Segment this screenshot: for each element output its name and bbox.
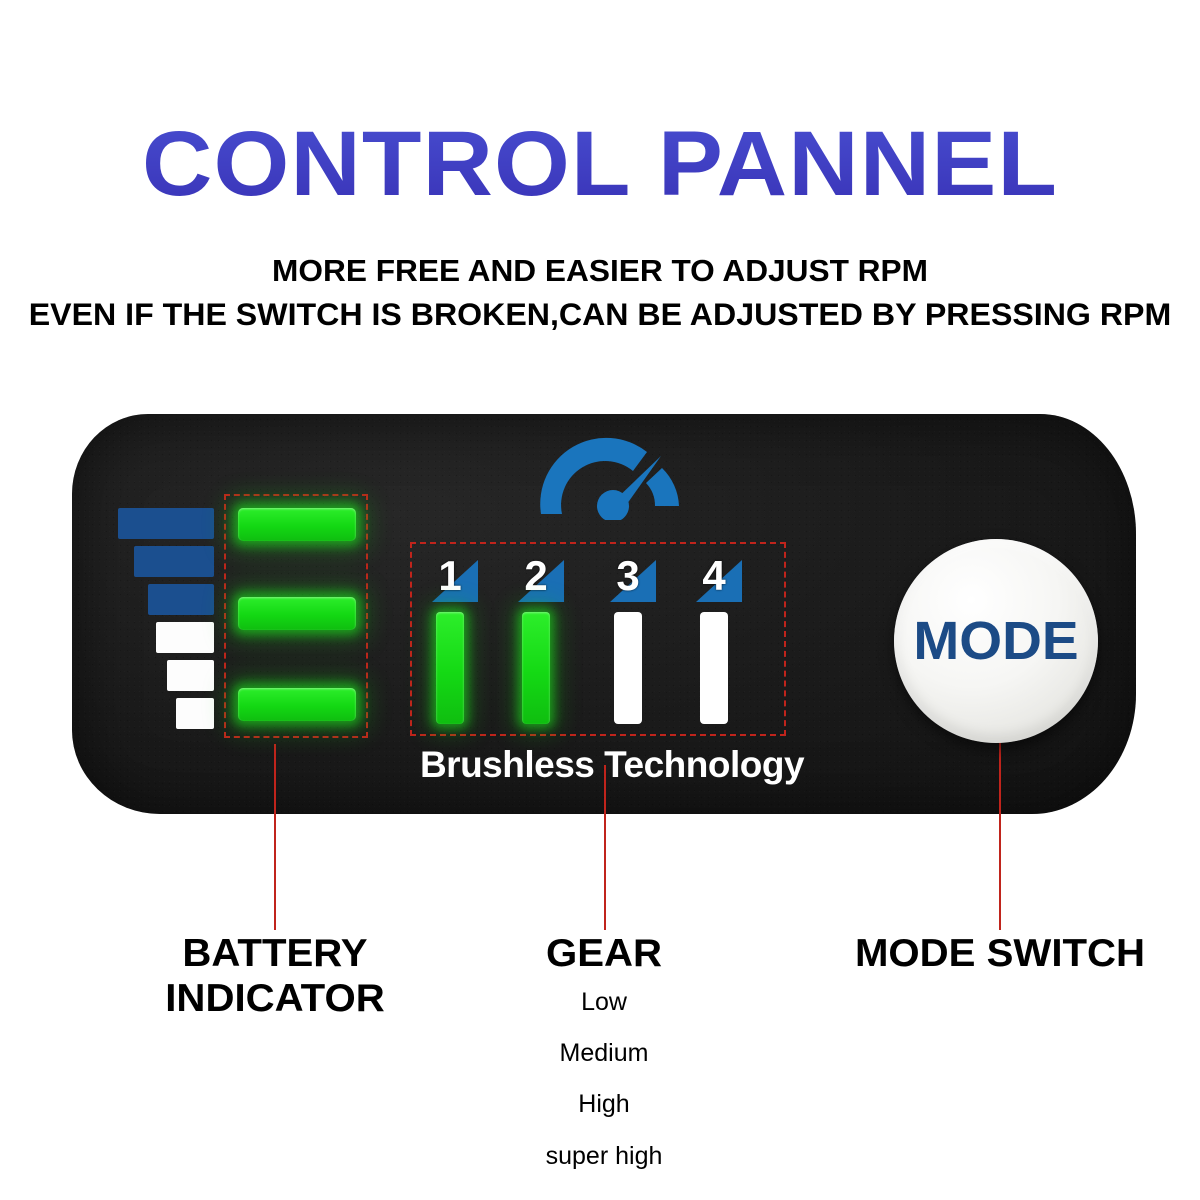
speedometer-gauge-icon (529, 430, 694, 520)
gear-number-4: 4 (694, 554, 734, 598)
gear-flag-2: 2 (516, 556, 566, 604)
caption-battery-indicator: BATTERY INDICATOR (110, 932, 440, 1022)
battery-step-1 (118, 508, 214, 539)
gear-flag-1: 1 (430, 556, 480, 604)
gear-number-3: 3 (608, 554, 648, 598)
gear-column-2[interactable]: 2 (516, 556, 572, 726)
caption-battery-line2: INDICATOR (105, 977, 445, 1022)
gear-flag-3: 3 (608, 556, 658, 604)
gear-bar-2 (522, 612, 550, 724)
gear-bar-3 (614, 612, 642, 724)
gear-bar-1 (436, 612, 464, 724)
caption-mode-title: MODE SWITCH (825, 932, 1175, 977)
gear-column-3[interactable]: 3 (608, 556, 664, 726)
gear-level-medium: Medium (444, 1028, 764, 1079)
gear-level-super-high: super high (444, 1131, 764, 1182)
battery-step-4 (156, 622, 214, 653)
battery-step-5 (167, 660, 214, 691)
mode-button[interactable]: MODE (894, 539, 1098, 743)
page-title: CONTROL PANNEL (0, 0, 1200, 210)
gear-level-high: High (444, 1079, 764, 1130)
gear-level-low: Low (444, 977, 764, 1028)
caption-battery-line1: BATTERY (105, 932, 445, 977)
gear-column-4[interactable]: 4 (694, 556, 750, 726)
battery-step-stack (114, 508, 214, 728)
subtitle-line-2: EVEN IF THE SWITCH IS BROKEN,CAN BE ADJU… (0, 295, 1200, 334)
battery-step-6 (176, 698, 214, 729)
gear-column-1[interactable]: 1 (430, 556, 486, 726)
control-panel: 1 2 3 4 Brushless Techno (72, 414, 1136, 814)
caption-gear-title: GEAR (439, 932, 769, 977)
gear-number-1: 1 (430, 554, 470, 598)
battery-led-group (224, 494, 368, 738)
brushless-technology-label: Brushless Technology (402, 744, 822, 786)
battery-indicator (114, 494, 368, 739)
battery-step-3 (148, 584, 214, 615)
caption-gear: GEAR Low Medium High super high (444, 932, 764, 1182)
subtitle-line-1: MORE FREE AND EASIER TO ADJUST RPM (0, 252, 1200, 291)
header: CONTROL PANNEL MORE FREE AND EASIER TO A… (0, 0, 1200, 334)
gear-indicator-group: 1 2 3 4 (410, 542, 786, 736)
gear-number-2: 2 (516, 554, 556, 598)
battery-led-3 (238, 688, 356, 721)
battery-step-2 (134, 546, 214, 577)
battery-led-2 (238, 597, 356, 630)
battery-led-1 (238, 508, 356, 541)
caption-mode-switch: MODE SWITCH (830, 932, 1170, 977)
mode-button-label: MODE (913, 610, 1078, 672)
gear-flag-4: 4 (694, 556, 744, 604)
gear-bar-4 (700, 612, 728, 724)
